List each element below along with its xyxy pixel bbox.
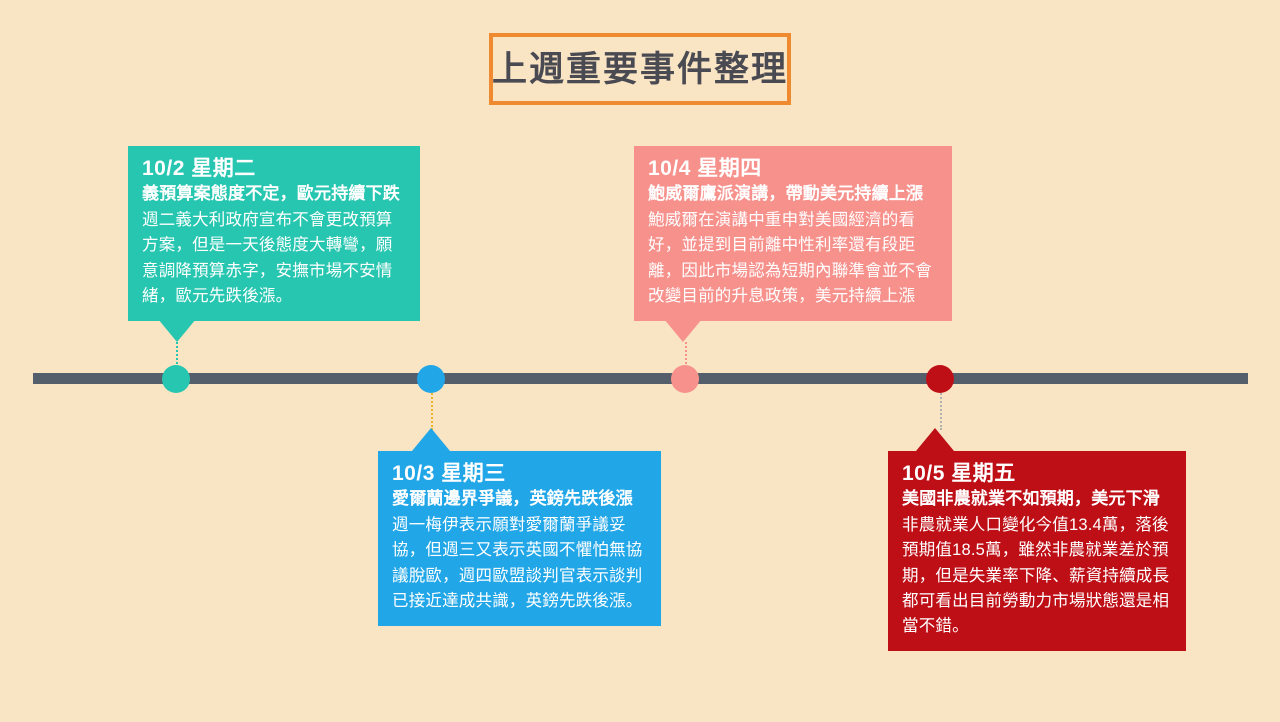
page-title: 上週重要事件整理 bbox=[492, 52, 788, 87]
event-date-1002: 10/2 星期二 bbox=[142, 156, 406, 182]
page-title-box: 上週重要事件整理 bbox=[489, 33, 791, 105]
event-card-1005[interactable]: 10/5 星期五 美國非農就業不如預期，美元下滑 非農就業人口變化今值13.4萬… bbox=[888, 451, 1186, 651]
event-card-1004[interactable]: 10/4 星期四 鮑威爾鷹派演講，帶動美元持續上漲 鮑威爾在演講中重申對美國經濟… bbox=[634, 146, 952, 321]
event-body-1003: 週一梅伊表示願對愛爾蘭爭議妥協，但週三又表示英國不懼怕無協議脫歐，週四歐盟談判官… bbox=[392, 513, 647, 613]
event-date-1004: 10/4 星期四 bbox=[648, 156, 938, 182]
card-tail-4 bbox=[916, 428, 954, 451]
timeline-marker-1[interactable] bbox=[162, 365, 190, 393]
event-headline-1002: 義預算案態度不定，歐元持續下跌 bbox=[142, 183, 406, 205]
event-body-1004: 鮑威爾在演講中重申對美國經濟的看好，並提到目前離中性利率還有段距離，因此市場認為… bbox=[648, 208, 938, 308]
timeline-marker-3[interactable] bbox=[671, 365, 699, 393]
timeline-infographic: 上週重要事件整理 10/2 星期二 義預算案態度不定，歐元持續下跌 週二義大利政… bbox=[0, 0, 1280, 722]
event-date-1003: 10/3 星期三 bbox=[392, 461, 647, 487]
card-tail-2 bbox=[412, 428, 450, 451]
event-date-1005: 10/5 星期五 bbox=[902, 461, 1172, 487]
card-tail-1 bbox=[158, 319, 196, 342]
timeline-marker-4[interactable] bbox=[926, 365, 954, 393]
card-tail-3 bbox=[664, 319, 702, 342]
connector-line-2 bbox=[431, 390, 433, 430]
event-headline-1005: 美國非農就業不如預期，美元下滑 bbox=[902, 488, 1172, 510]
event-headline-1003: 愛爾蘭邊界爭議，英鎊先跌後漲 bbox=[392, 488, 647, 510]
event-headline-1004: 鮑威爾鷹派演講，帶動美元持續上漲 bbox=[648, 183, 938, 205]
event-card-1002[interactable]: 10/2 星期二 義預算案態度不定，歐元持續下跌 週二義大利政府宣布不會更改預算… bbox=[128, 146, 420, 321]
event-body-1002: 週二義大利政府宣布不會更改預算方案，但是一天後態度大轉彎，願意調降預算赤字，安撫… bbox=[142, 208, 406, 308]
timeline-marker-2[interactable] bbox=[417, 365, 445, 393]
connector-line-4 bbox=[940, 390, 942, 430]
event-card-1003[interactable]: 10/3 星期三 愛爾蘭邊界爭議，英鎊先跌後漲 週一梅伊表示願對愛爾蘭爭議妥協，… bbox=[378, 451, 661, 626]
event-body-1005: 非農就業人口變化今值13.4萬，落後預期值18.5萬，雖然非農就業差於預期，但是… bbox=[902, 513, 1172, 638]
timeline-axis bbox=[33, 373, 1248, 384]
